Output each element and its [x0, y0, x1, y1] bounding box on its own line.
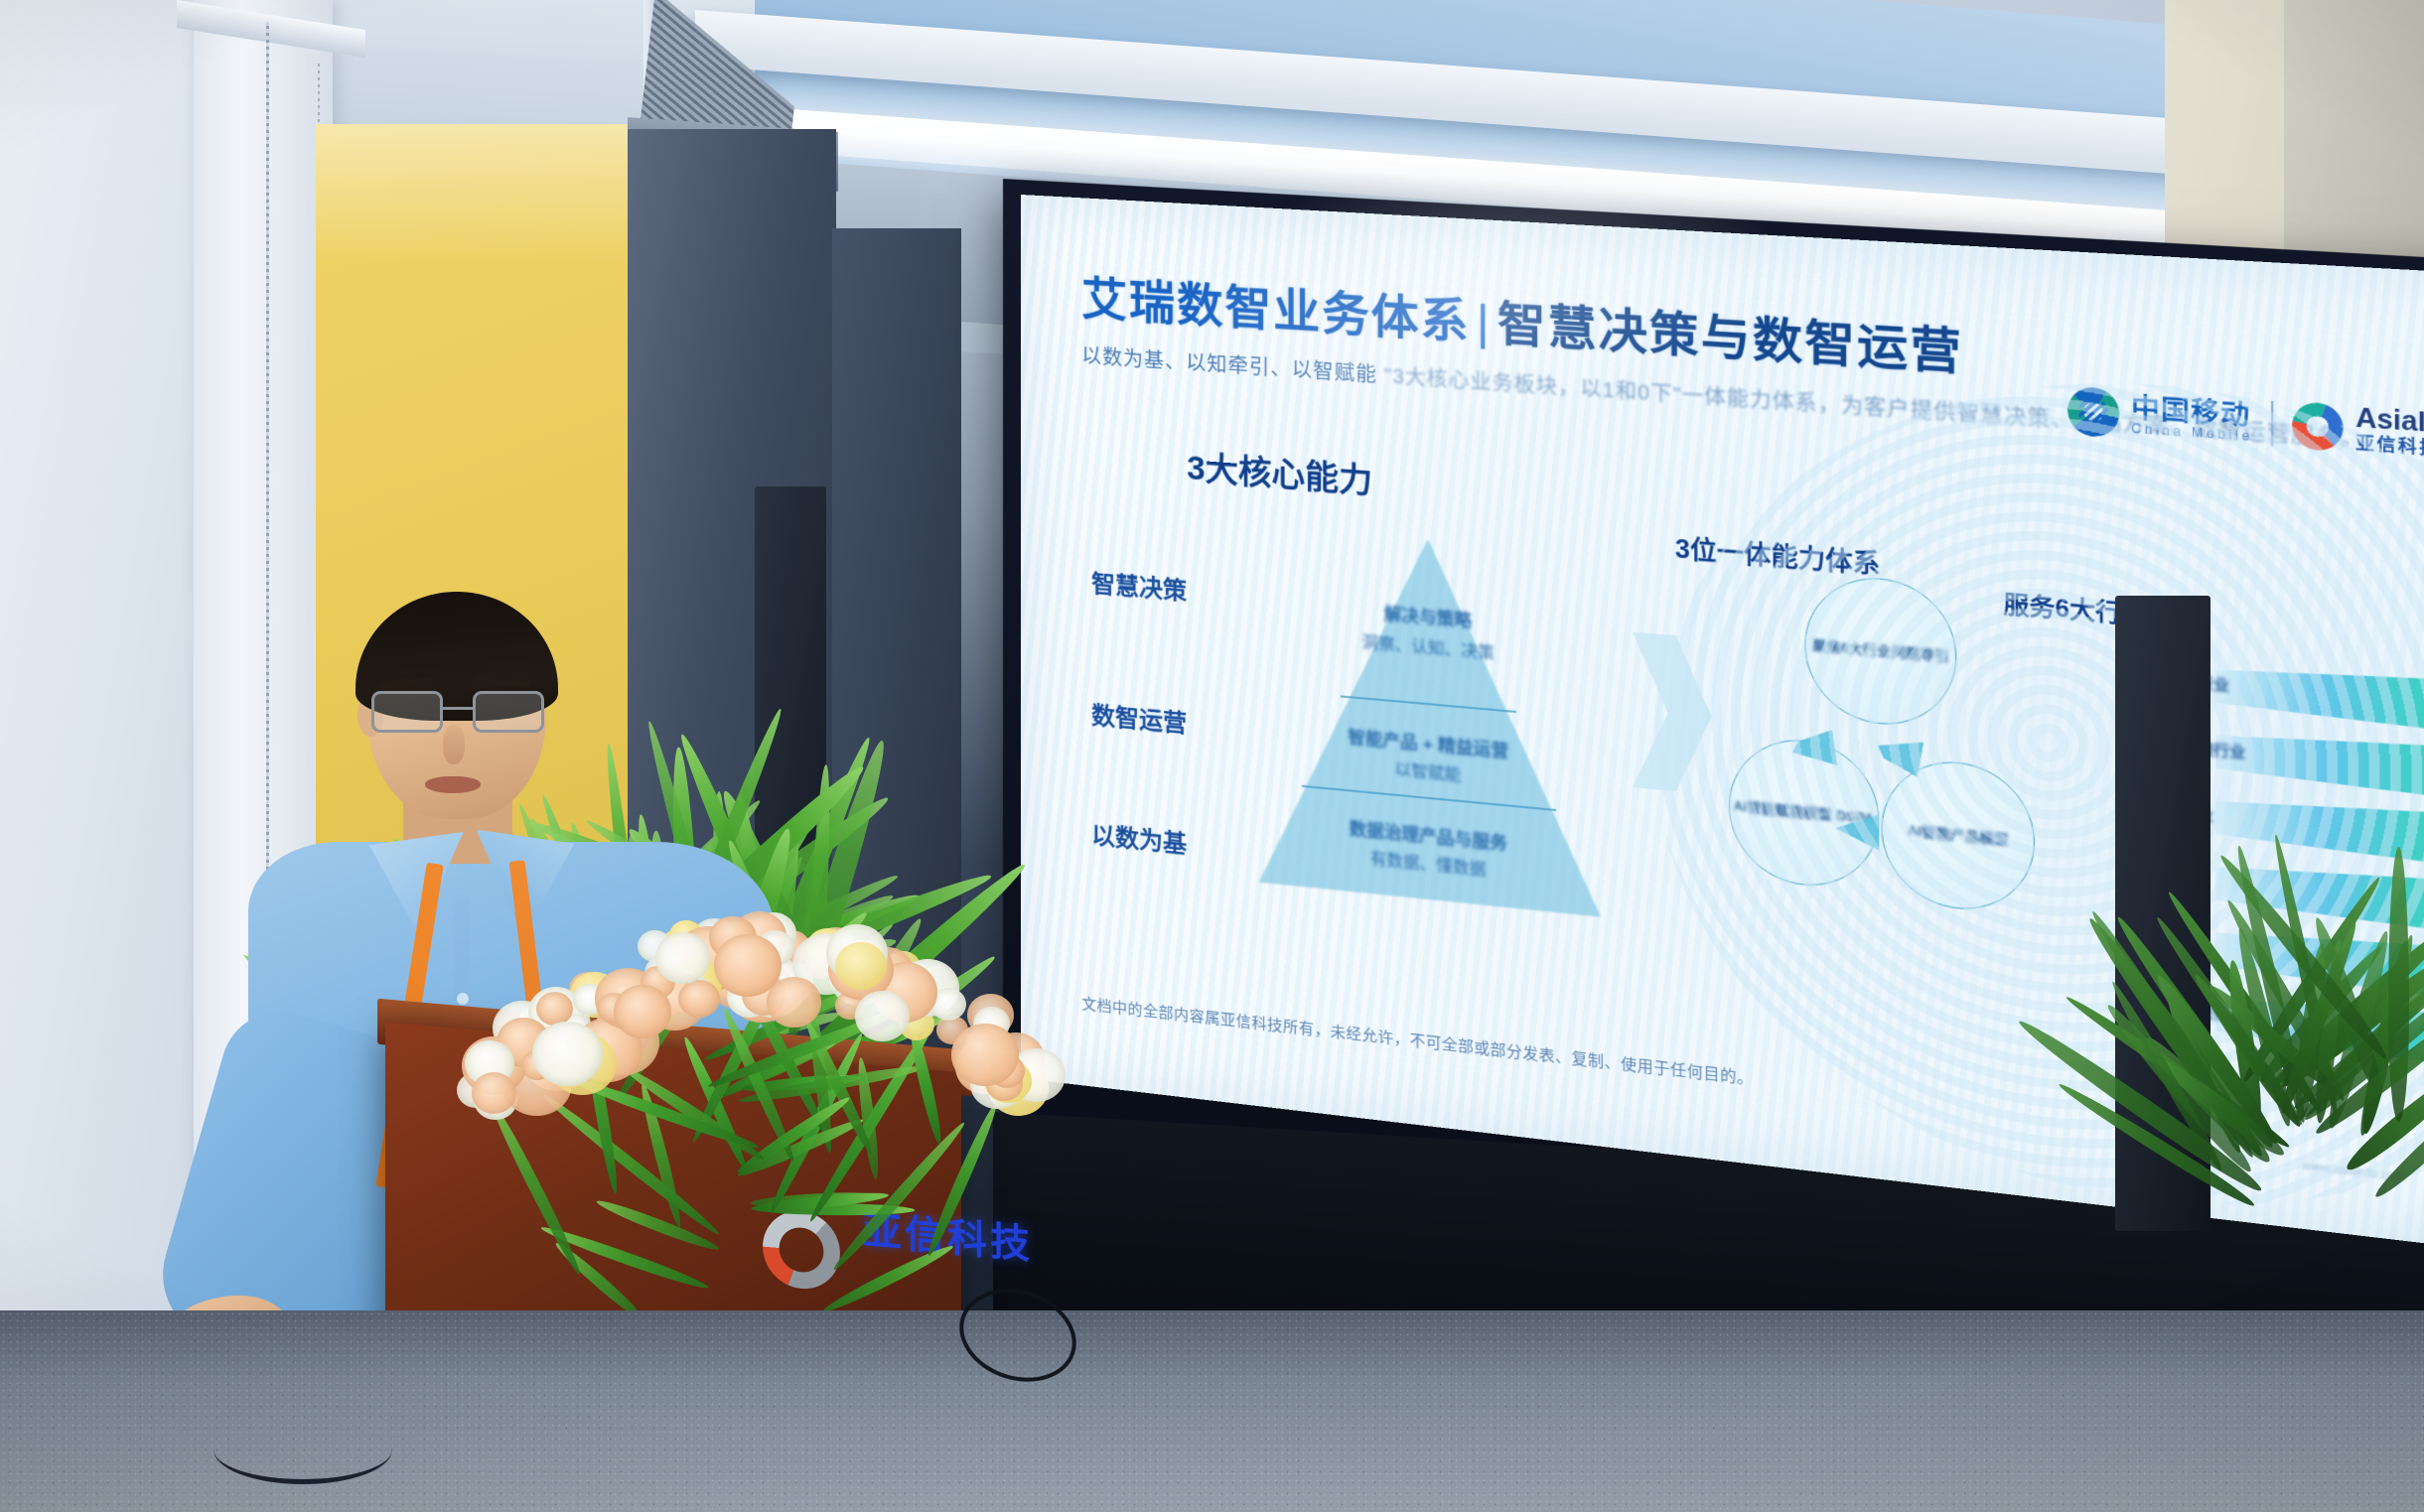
asiainfo-label-cn: 亚信科技 [2355, 435, 2424, 462]
glasses-lens-left [371, 691, 443, 733]
industry-bar-shape-5 [2215, 923, 2424, 1000]
column-heading-core-capabilities: 3大核心能力 [1187, 441, 1372, 502]
yellow-wall-highlight [316, 124, 643, 263]
slide-subtitle-clear: 以数为基、以知牵引、以智赋能 [1081, 345, 1377, 387]
china-mobile-mark-icon [2068, 386, 2119, 439]
slide-title-sub: 智慧决策与数智运营 [1497, 297, 1963, 379]
slide-copyright-footer: 文档中的全部内容属亚信科技所有，未经允许，不可全部或部分发表、复制、使用于任何目… [1081, 993, 1754, 1089]
presentation-slide[interactable]: 艾瑞数智业务体系|智慧决策与数智运营 以数为基、以知牵引、以智赋能 "3大核心业… [1021, 195, 2424, 1257]
speaker-nose [443, 725, 465, 764]
slide-logo-row: 中国移动 China Mobile AsiaInfo 亚信科技 [2068, 386, 2424, 463]
slide-title-main: 艾瑞数智业务体系 [1081, 272, 1470, 348]
loudspeaker-right [2115, 596, 2210, 1231]
asiainfo-mark-icon [2292, 401, 2344, 452]
industry-bar-shape-3 [2215, 792, 2424, 867]
circle-node-2: AI智能赋能模型 DSPA [1729, 734, 1879, 893]
china-mobile-logo: 中国移动 China Mobile [2068, 386, 2252, 448]
circle-node-1-label: 聚焦6大行业问题导引 [1812, 636, 1949, 666]
slide-title-divider: | [1471, 295, 1497, 349]
carpet-texture [0, 1310, 2424, 1512]
floor-cable [214, 1415, 392, 1484]
cycle-arrow-icon-2 [1874, 731, 1924, 776]
asiainfo-logo: AsiaInfo 亚信科技 [2292, 400, 2424, 461]
circle-node-3-label: AI智能产品模型 [1908, 821, 2009, 849]
pyramid-shape: 解决与策略 洞察、认知、决策 智能产品 + 精益运营 以智赋能 数据治理产品与服… [1259, 526, 1601, 916]
slide-url: www.asiainfo.com [2303, 1160, 2406, 1184]
pyramid-row-label-3: 以数为基 [1091, 815, 1187, 860]
circle-node-1: 聚焦6大行业问题导引 [1804, 573, 1956, 731]
glasses-lens-right [473, 691, 544, 733]
pyramid-row-label-2: 数智运营 [1091, 695, 1187, 739]
trinity-circle-diagram: 聚焦6大行业问题导引 AI智能赋能模型 DSPA AI智能产品模型 [1729, 567, 2037, 942]
speaker-mouth [425, 776, 481, 793]
section-connector-arrow-icon [1633, 631, 1712, 794]
pyramid-row-label-1: 智慧决策 [1091, 564, 1187, 607]
industry-bar-shape-4 [2215, 858, 2424, 933]
industry-bar-shape-1 [2215, 660, 2424, 733]
pyramid-diagram: 智慧决策 数智运营 以数为基 解决与策略 洞察、认知、决策 智能产品 + 精益运… [1069, 496, 1622, 1004]
conference-photo-scene: 艾瑞数智业务体系|智慧决策与数智运营 以数为基、以知牵引、以智赋能 "3大核心业… [0, 0, 2424, 1512]
industry-bar-shape-6 [2215, 989, 2424, 1066]
glasses-bridge [443, 707, 473, 710]
shirt-button [457, 993, 469, 1005]
logo-separator [2271, 401, 2273, 447]
industry-bar-shape-2 [2215, 726, 2424, 799]
circle-node-3: AI智能产品模型 [1882, 756, 2036, 916]
